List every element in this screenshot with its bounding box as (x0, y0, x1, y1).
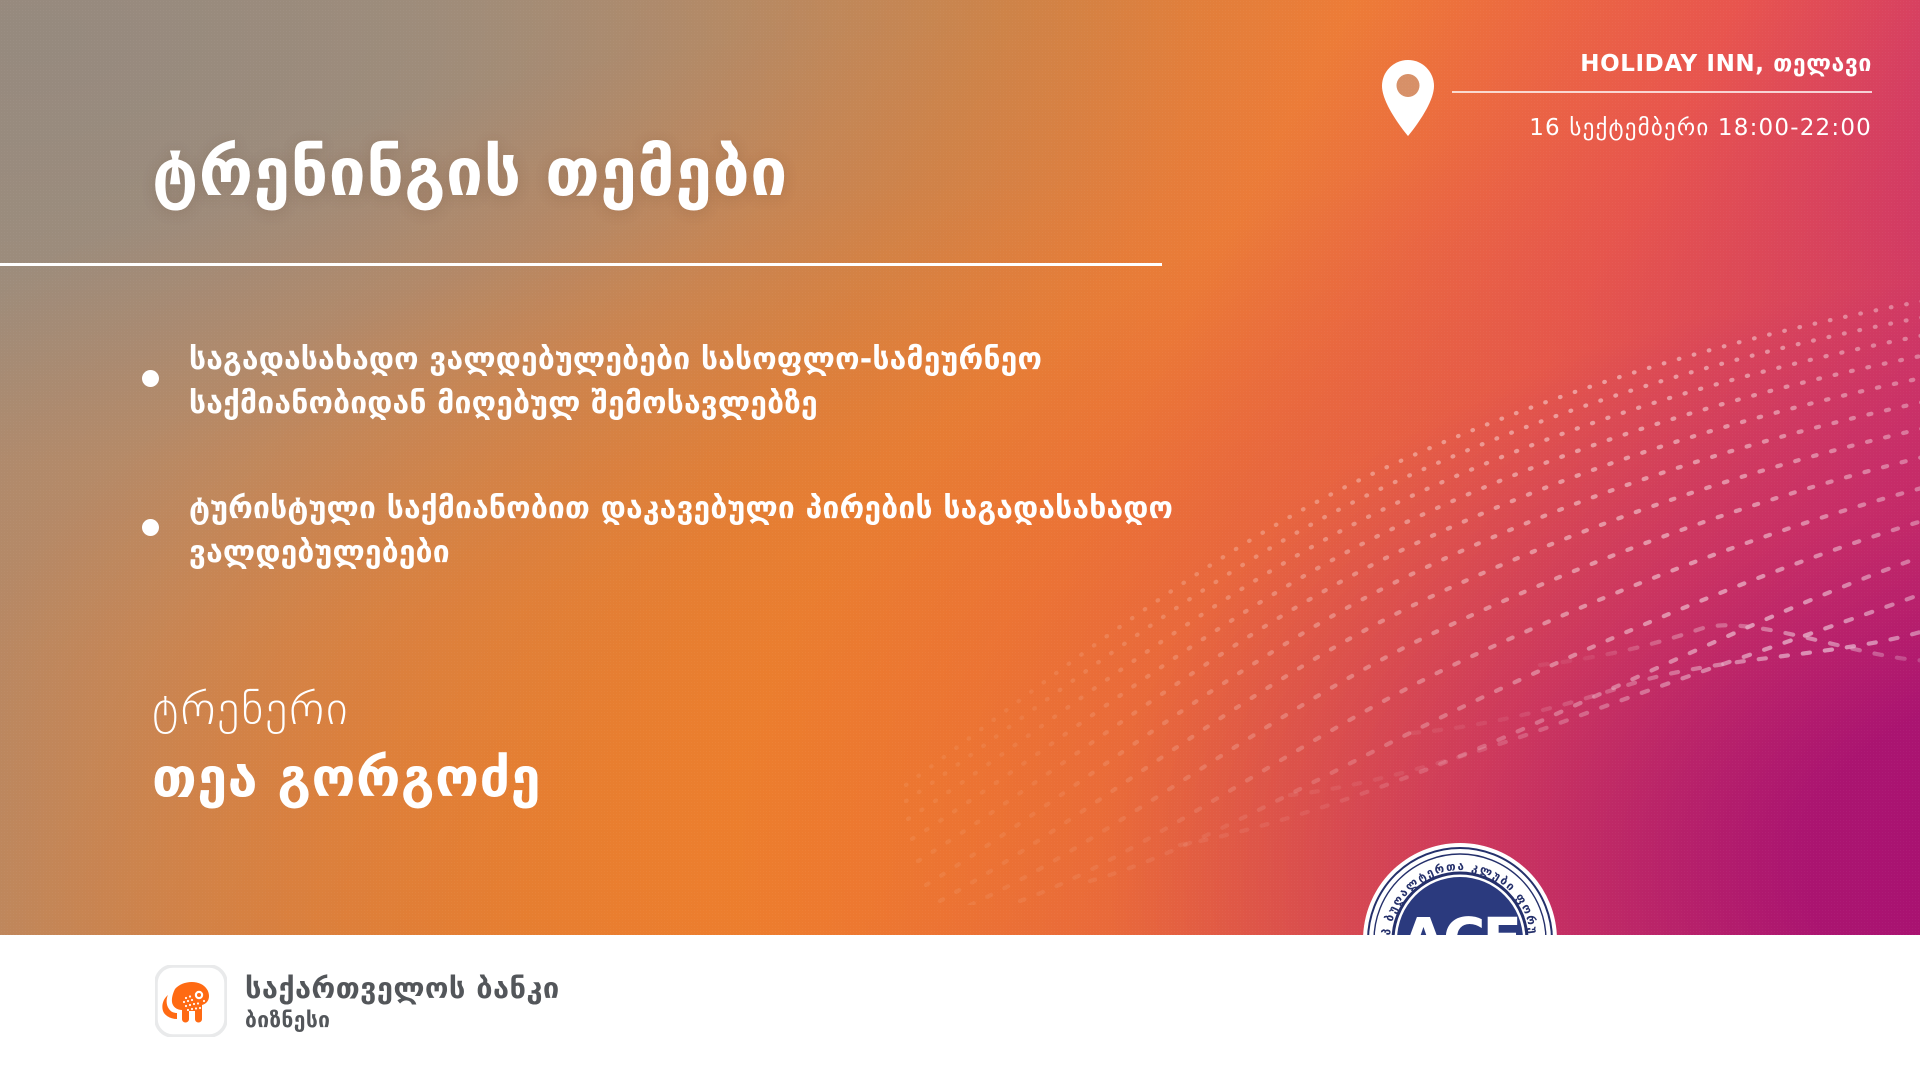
list-item: საგადასახადო ვალდებულებები სასოფლო-სამეუ… (142, 338, 1222, 427)
map-pin-icon (1382, 60, 1434, 136)
title-divider (0, 263, 1162, 266)
gradient-background: HOLIDAY INN, თელავი 16 სექტემბერი 18:00-… (0, 0, 1920, 935)
event-meta-block: HOLIDAY INN, თელავი 16 სექტემბერი 18:00-… (1382, 52, 1872, 141)
topic-text: ტურისტული საქმიანობით დაკავებული პირების… (189, 487, 1222, 576)
bank-of-georgia-logo: საქართველოს ბანკი ბიზნესი (155, 965, 560, 1037)
datetime-label: 16 სექტემბერი 18:00-22:00 (1529, 93, 1872, 141)
topic-text: საგადასახადო ვალდებულებები სასოფლო-სამეუ… (189, 338, 1222, 427)
bank-subtitle: ბიზნესი (245, 1008, 560, 1032)
list-item: ტურისტული საქმიანობით დაკავებული პირების… (142, 487, 1222, 576)
trainer-label: ტრენერი (152, 680, 541, 738)
bullet-dot-icon (142, 519, 159, 536)
bullet-dot-icon (142, 370, 159, 387)
page-title: ტრენინგის თემები (152, 134, 788, 211)
bank-name: საქართველოს ბანკი (245, 971, 560, 1005)
poster-canvas: HOLIDAY INN, თელავი 16 სექტემბერი 18:00-… (0, 0, 1920, 1080)
topics-list: საგადასახადო ვალდებულებები სასოფლო-სამეუ… (142, 338, 1222, 576)
venue-label: HOLIDAY INN, თელავი (1580, 52, 1872, 91)
trainer-block: ტრენერი თეა გორგოძე (152, 680, 541, 810)
trainer-name: თეა გორგოძე (152, 746, 541, 811)
bog-lion-icon (155, 965, 227, 1037)
